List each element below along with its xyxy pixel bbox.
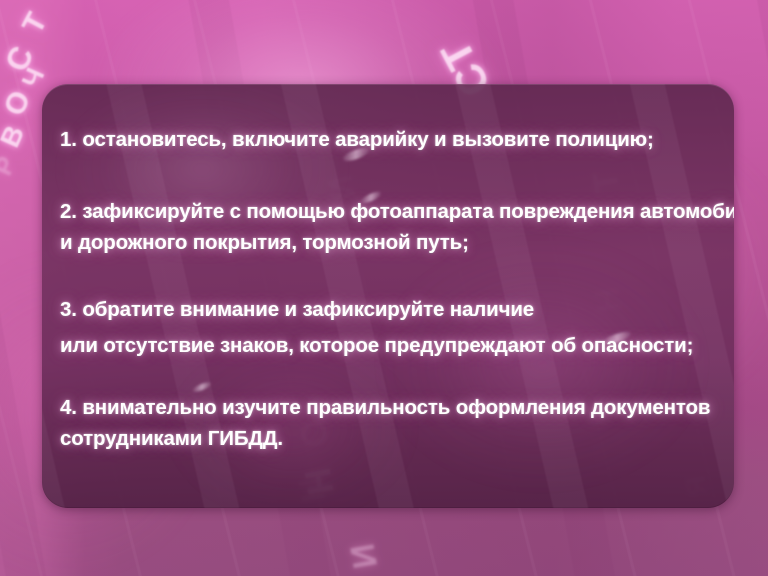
content-panel: 1. остановитесь, включите аварийку и выз… — [42, 84, 734, 508]
list-item: и дорожного покрытия, тормозной путь; — [60, 231, 469, 255]
instruction-list: 1. остановитесь, включите аварийку и выз… — [60, 84, 724, 508]
list-item: 1. остановитесь, включите аварийку и выз… — [60, 128, 654, 152]
list-item: 2. зафиксируйте с помощью фотоаппарата п… — [60, 200, 734, 224]
list-item: сотрудниками ГИБДД. — [60, 427, 283, 451]
slide-canvas: ТСЧОВРСТИТОНОННИТЯ 1. остановитесь, вклю… — [0, 0, 768, 576]
list-item: 4. внимательно изучите правильность офор… — [60, 396, 710, 420]
list-item: или отсутствие знаков, которое предупреж… — [60, 334, 693, 358]
list-item: 3. обратите внимание и зафиксируйте нали… — [60, 298, 534, 322]
